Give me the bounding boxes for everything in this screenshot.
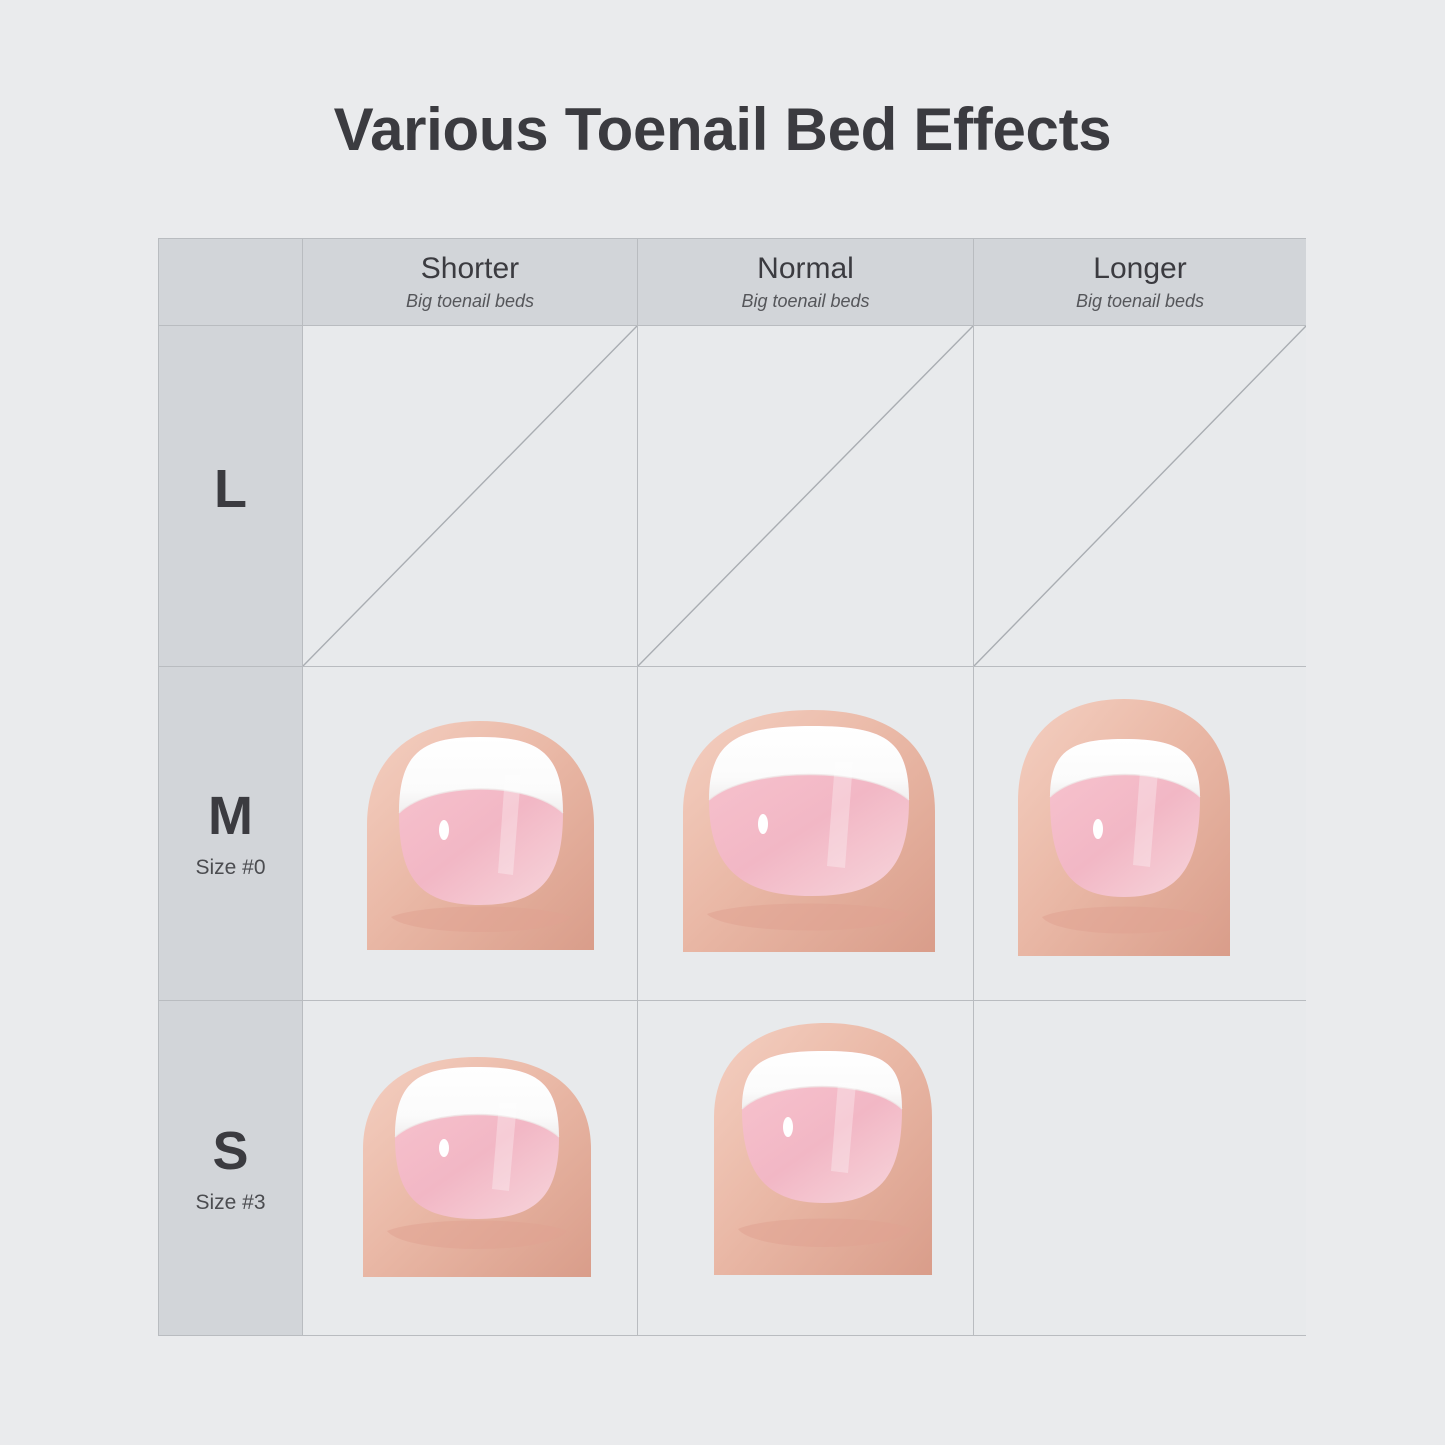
cell-L-normal [638,326,973,666]
grid-line-vertical [973,239,974,1335]
grid-line-horizontal [159,1000,1305,1001]
grid-line-horizontal [159,666,1305,667]
column-header-longer-label: Longer [1093,251,1186,286]
cell-L-shorter [303,326,637,666]
row-header-S: S Size #3 [159,1001,302,1335]
diagonal-strike-icon [303,326,637,666]
column-header-normal-label: Normal [757,251,854,286]
grid-line-vertical [637,239,638,1335]
toenail-image-M-normal [677,700,947,952]
toenail-image-M-longer [1000,693,1248,956]
table-corner-cell [159,239,302,325]
diagonal-strike-icon [974,326,1306,666]
row-header-M-sizecode: Size #0 [195,857,265,878]
row-header-M: M Size #0 [159,667,302,1000]
toenail-image-S-shorter [351,1045,604,1277]
diagonal-strike-icon [638,326,973,666]
toenail-image-S-normal [700,1017,948,1275]
grid-line-horizontal [159,325,1305,326]
toenail-illustration [353,705,608,950]
cell-S-longer [974,1001,1306,1335]
toenail-illustration [351,1045,604,1277]
grid-line-vertical [302,239,303,1335]
page-title: Various Toenail Bed Effects [0,98,1445,161]
toenail-image-M-shorter [353,705,608,950]
infographic-root: Various Toenail Bed Effects Shorter Big … [0,0,1445,1445]
row-header-L: L [159,326,302,666]
column-header-normal: Normal Big toenail beds [638,239,973,325]
row-header-L-letter: L [214,462,247,516]
column-header-longer: Longer Big toenail beds [974,239,1306,325]
row-header-S-sizecode: Size #3 [195,1192,265,1213]
toenail-illustration [677,700,947,952]
toenail-illustration [1000,693,1248,956]
column-header-shorter: Shorter Big toenail beds [303,239,637,325]
row-header-S-letter: S [212,1124,248,1178]
column-header-shorter-sublabel: Big toenail beds [406,291,534,313]
column-header-shorter-label: Shorter [421,251,519,286]
column-header-longer-sublabel: Big toenail beds [1076,291,1204,313]
column-header-normal-sublabel: Big toenail beds [741,291,869,313]
cell-L-longer [974,326,1306,666]
row-header-M-letter: M [208,789,253,843]
toenail-illustration [700,1017,948,1275]
